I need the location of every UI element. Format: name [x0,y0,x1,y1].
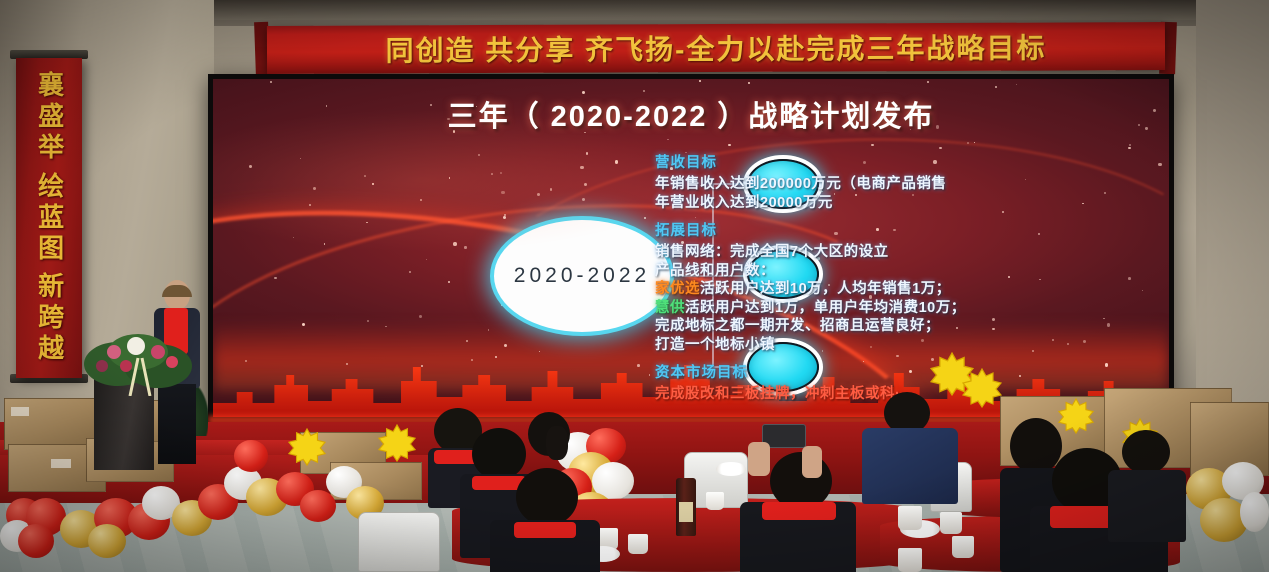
star-particle [828,284,830,286]
speaker-legs [158,384,196,464]
star-particle [910,129,912,131]
star-particle [634,275,636,277]
star-particle [527,259,529,261]
star-particle [586,152,589,155]
star-particle [754,127,756,129]
star-particle [816,177,818,179]
star-particle [673,273,674,274]
vertical-banner-line-1: 襄盛举 [35,71,62,164]
tea-cup [898,548,922,572]
balloon [88,524,126,558]
star-particle [495,356,498,359]
star-particle [817,257,820,260]
star-particle [324,243,326,245]
star-particle [582,198,586,202]
star-particle [820,202,821,203]
star-particle [933,160,937,164]
star-particle [447,118,450,121]
center-year-label: 2020-2022 [494,220,670,332]
wine-bottle-label [679,502,693,522]
strategy-text-column: 营收目标年销售收入达到200000万元（电商产品销售年营业收入达到20000万元… [655,151,1165,411]
tea-cup [952,536,974,558]
star-particle [501,304,502,305]
guest [862,392,958,502]
star-particle [1067,343,1069,345]
strategy-line: 完成地标之都一期开发、招商且运营良好； [655,317,1165,336]
star-particle [453,130,455,132]
ceiling-shade [180,0,1269,20]
star-particle [663,204,666,207]
star-particle [1105,363,1108,366]
star-particle [372,183,373,184]
star-particle [759,264,762,267]
led-screen-title: 三年（ 2020-2022 ）战略计划发布 [213,93,1169,135]
star-particle [491,173,493,175]
starfield [213,79,1169,417]
connector-diagram [213,79,1169,417]
star-particle [346,363,348,365]
strategy-line-text: 活跃用户达到1万，单用户年均消费10万； [685,300,966,316]
star-particle [550,188,553,191]
star-particle [869,295,873,299]
star-particle [995,86,997,88]
star-particle [1103,318,1104,319]
star-particle [901,305,902,306]
star-particle [426,259,427,260]
vertical-red-banner: 襄盛举 绘蓝图 新跨越 [16,58,82,378]
top-red-banner: 同创造 共分享 齐飞扬-全力以赴完成三年战略目标 [267,22,1165,74]
guest-torso [1108,470,1186,542]
strategy-line: 产品线和用户数： [655,262,1165,281]
star-particle [537,193,540,196]
star-particle [956,327,958,329]
strategy-line: 家优选活跃用户达到10万，人均年销售1万； [655,280,1165,299]
star-particle [584,132,585,133]
strategy-line: 年营业收入达到20000万元 [655,194,1165,213]
bottom-glow-band [213,321,1169,391]
star-particle [974,142,975,143]
star-particle [1019,375,1021,377]
star-particle [464,246,466,248]
cardboard-box [4,398,96,450]
balloon [300,490,336,522]
starburst-icon [378,424,416,462]
star-particle [419,315,422,318]
guest-with-phone [740,440,856,572]
star-particle [1038,233,1039,234]
chair [358,512,440,572]
wall-right [1196,0,1269,420]
star-particle [909,370,912,373]
star-particle [1082,203,1083,204]
star-particle [420,199,422,201]
vertical-banner-line-2: 绘蓝图 [35,172,62,265]
star-particle [471,359,473,361]
star-particle [695,217,696,218]
star-particle [1128,147,1131,150]
guest-red-scarf [762,502,836,520]
strategy-line-text: 活跃用户达到10万，人均年销售1万； [700,281,951,297]
star-particle [448,281,450,283]
star-particle [385,326,387,328]
guest [516,412,582,478]
star-particle [580,166,583,169]
star-particle [539,351,540,352]
vertical-banner-text: 襄盛举 绘蓝图 新跨越 [16,64,82,372]
star-particle [967,142,969,144]
star-particle [921,339,924,342]
star-particle [752,174,753,175]
star-particle [870,346,872,348]
star-particle [927,81,929,83]
starburst-icon [288,428,326,466]
star-particle [1025,179,1026,180]
star-particle [876,228,879,231]
balloon [234,440,268,472]
strategy-section: 拓展目标销售网络：完成全国7个大区的设立产品线和用户数：家优选活跃用户达到10万… [655,219,1165,354]
star-particle [409,271,411,273]
star-particle [300,158,301,159]
top-banner-text: 同创造 共分享 齐飞扬-全力以赴完成三年战略目标 [267,22,1165,74]
star-particle [1008,276,1010,278]
guest-head [1122,430,1170,474]
star-particle [992,328,994,330]
guest-hand [802,446,822,478]
strategy-line: 销售网络：完成全国7个大区的设立 [655,243,1165,262]
guest-ponytail [546,426,568,460]
tea-cup [940,512,962,534]
star-particle [896,355,898,357]
star-particle [728,144,731,147]
star-particle [649,374,651,376]
light-sweep-3 [468,126,1169,417]
star-particle [1107,323,1110,326]
star-particle [488,329,490,331]
star-particle [685,152,686,153]
guest [1108,430,1186,540]
guest-blue-jacket [862,428,958,504]
star-particle [939,147,942,150]
star-particle [733,280,735,282]
light-sweep-2 [213,170,926,417]
tea-cup [898,506,922,530]
diagram-node-1 [747,159,819,209]
box-label [51,459,71,468]
star-particle [364,175,366,177]
star-particle [639,124,642,127]
star-particle [326,105,328,107]
tea-cup [706,492,724,510]
star-particle [293,237,294,238]
star-particle [495,273,496,274]
star-particle [302,323,305,326]
diagram-node-3 [747,342,819,392]
star-particle [1039,279,1041,281]
star-particle [761,262,762,263]
star-particle [667,139,668,140]
star-particle [799,166,802,169]
strategy-line: 慧供活跃用户达到1万，单用户年均消费10万； [655,299,1165,318]
star-particle [771,106,772,107]
star-particle [1032,350,1034,352]
tea-cup [628,534,648,554]
guest-hand [748,442,770,476]
light-sweep-1 [213,146,976,417]
star-particle [430,104,432,106]
star-particle [270,81,272,83]
star-particle [1142,290,1143,291]
starburst-icon [962,368,1002,408]
star-particle [476,106,477,107]
star-particle [855,194,857,196]
star-particle [936,125,939,128]
star-particle [453,242,457,246]
star-particle [670,167,673,170]
star-particle [504,214,507,217]
star-particle [739,243,740,244]
balloon [18,524,54,558]
star-particle [912,194,913,195]
star-particle [421,365,423,367]
star-particle [821,191,823,193]
brand-tag: 家优选 [655,281,700,297]
star-particle [245,360,247,362]
star-particle [680,286,683,289]
star-particle [822,350,824,352]
star-particle [615,160,618,163]
star-particle [863,161,866,164]
star-particle [1083,340,1086,343]
star-particle [705,159,708,162]
star-particle [274,277,276,279]
star-particle [992,318,995,321]
star-particle [1052,339,1054,341]
star-particle [834,193,836,195]
star-particle [466,340,468,342]
podium-flowers [84,322,200,396]
center-year-oval: 2020-2022 [494,220,670,332]
star-particle [1153,109,1156,112]
speaker-hair [162,285,192,297]
star-particle [366,222,368,224]
strategy-section-heading: 拓展目标 [655,219,1165,240]
star-particle [637,364,640,367]
star-particle [1145,127,1147,129]
star-particle [309,204,311,206]
star-particle [1002,211,1004,213]
star-particle [893,229,895,231]
vertical-banner-line-3: 新跨越 [35,272,62,365]
star-particle [503,216,506,219]
star-particle [573,329,577,333]
star-particle [584,183,587,186]
star-particle [612,285,613,286]
star-particle [871,144,873,146]
guest-red-scarf [514,522,576,538]
event-photo-scene: 同创造 共分享 齐飞扬-全力以赴完成三年战略目标 襄盛举 绘蓝图 新跨越 [0,0,1269,572]
star-particle [367,320,369,322]
guest [490,468,600,572]
box-label [11,407,29,416]
star-particle [313,187,316,190]
star-particle [593,282,595,284]
star-particle [748,82,750,84]
star-particle [696,159,697,160]
star-particle [1129,144,1131,146]
diagram-node-2 [747,249,819,299]
star-particle [449,177,451,179]
led-screen-frame: 三年（ 2020-2022 ）战略计划发布 2020-2022 营收目标年销售收… [208,74,1174,422]
star-particle [582,91,585,94]
star-particle [1138,124,1140,126]
star-particle [501,191,504,194]
brand-tag: 慧供 [655,300,685,316]
star-particle [572,273,574,275]
led-screen: 三年（ 2020-2022 ）战略计划发布 2020-2022 营收目标年销售收… [213,79,1169,417]
star-particle [478,154,479,155]
strategy-section: 营收目标年销售收入达到200000万元（电商产品销售年营业收入达到20000万元 [655,151,1165,212]
strategy-section-heading: 资本市场目标 [655,361,1165,382]
star-particle [1104,192,1106,194]
star-particle [699,80,701,82]
star-particle [834,232,838,236]
star-particle [504,344,507,347]
star-particle [681,241,684,244]
star-particle [863,361,864,362]
star-particle [643,90,644,91]
star-particle [1158,163,1161,166]
star-particle [799,257,800,258]
star-particle [796,273,797,274]
star-particle [898,331,901,334]
star-particle [249,165,252,168]
star-particle [755,337,757,339]
strategy-line: 打造一个地标小镇 [655,336,1165,355]
strategy-line: 年销售收入达到200000万元（电商产品销售 [655,175,1165,194]
strategy-section-heading: 营收目标 [655,151,1165,172]
balloon [1240,492,1269,532]
star-particle [764,191,768,195]
star-particle [762,342,763,343]
star-particle [1016,84,1017,85]
star-particle [644,217,647,220]
star-particle [1128,277,1131,280]
star-particle [500,172,502,174]
star-particle [586,305,590,309]
